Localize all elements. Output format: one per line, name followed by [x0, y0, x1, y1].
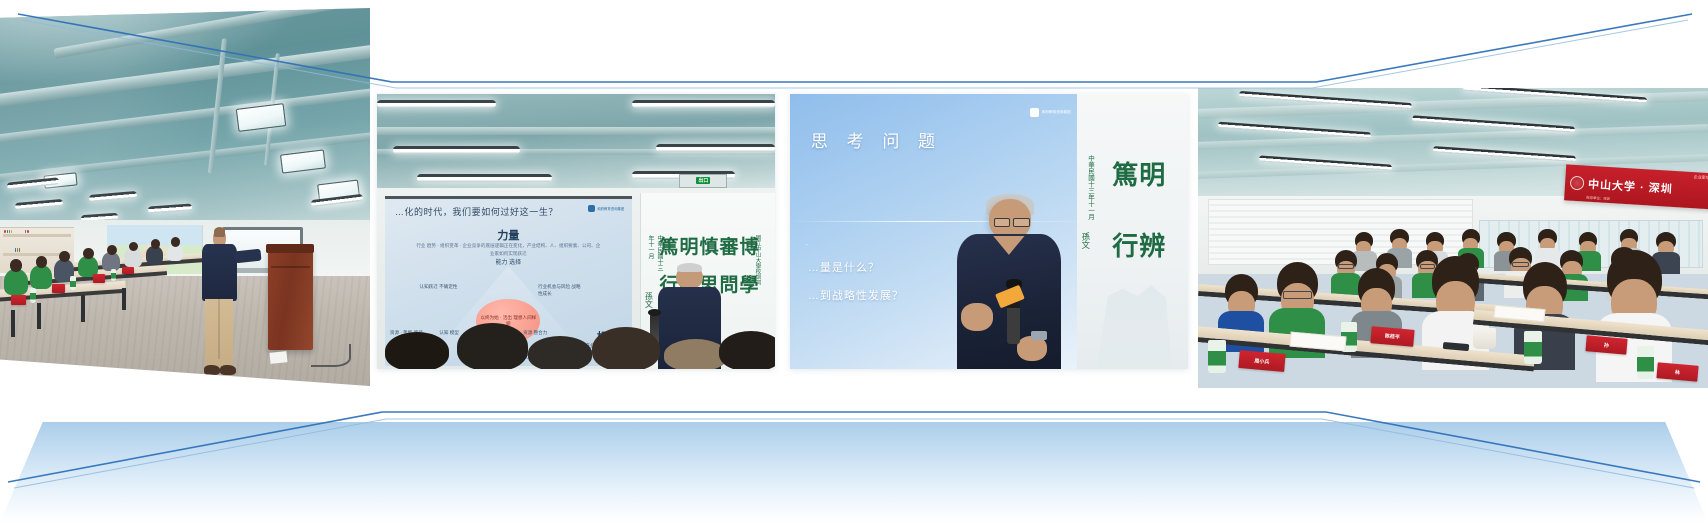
- water-bottle: [1637, 346, 1654, 379]
- photo-2-render: 出口 和府教育咨询集团 …化的时代，我们要如何过好这一生？ 力量 行业 趋势 ·…: [377, 94, 775, 369]
- calligraphy-date-note: 中華民國十三年十一月: [646, 235, 664, 274]
- name-placard: 周小兵: [1238, 350, 1285, 372]
- slide-question-2: …到战略性发展？: [808, 287, 904, 303]
- name-placard: [52, 284, 65, 293]
- instructor-shoe: [204, 365, 220, 375]
- exit-sign: 出口: [679, 174, 727, 188]
- instructor-shoe: [220, 365, 236, 375]
- gallery-photo-speaker-portrait-slide[interactable]: 和府教育咨询集团 思 考 问 题 · …量是什么？ …到战略性发展？ 篤明 行辨…: [790, 94, 1188, 369]
- wristwatch: [1031, 331, 1047, 340]
- pendant-light: [377, 100, 496, 108]
- wall-calligraphy-line-2: 行辨: [1112, 226, 1166, 263]
- name-placard: [11, 295, 26, 305]
- banner-main-text: 中山大学 · 深圳: [1588, 176, 1674, 197]
- wall-calligraphy-signature: 孫文: [1079, 232, 1091, 282]
- gallery-photo-lecture-slide-and-calligraphy[interactable]: 出口 和府教育咨询集团 …化的时代，我们要如何过好这一生？ 力量 行业 趋势 ·…: [377, 94, 775, 369]
- wall-calligraphy-line-1: 篤明: [1112, 155, 1166, 192]
- eyeglasses-right-lens: [1013, 218, 1030, 227]
- triangle-right-label: 行业机会与风险 战略性成长: [538, 283, 582, 297]
- banner-sub-text: 指导单位：深圳: [1586, 195, 1610, 201]
- name-placard-label: 孙: [1603, 341, 1609, 348]
- pendant-light: [393, 146, 520, 154]
- floor-highlight: [0, 410, 1708, 422]
- calligraphy-wall: 篤明 行辨 中華民國十三年十一月 孫文: [1077, 94, 1188, 369]
- calligraphy-line-1: 篤明慎審博: [659, 232, 759, 259]
- logo-mark-icon: [1030, 108, 1039, 117]
- water-bottle: [1524, 331, 1541, 364]
- speaker-head: [676, 265, 704, 290]
- calligraphy-side-note-right: 國立中山大學校訓詞: [753, 235, 761, 312]
- perspective-floor-panel: [0, 418, 1708, 523]
- gallery-photo-audience-rows[interactable]: 中山大学 · 深圳 企业家培训 指导单位：深圳: [1198, 88, 1708, 388]
- audience-foreground: [377, 320, 775, 370]
- university-seal-icon: [1570, 176, 1585, 191]
- slide-logo-text: 和府教育咨询集团: [1042, 110, 1071, 114]
- floor-paper: [270, 351, 288, 364]
- name-placard: 孙: [1585, 335, 1627, 355]
- pendant-light: [632, 100, 775, 108]
- name-placard-label: 林: [1675, 368, 1681, 375]
- triangle-top-label: 能力 选择: [452, 259, 566, 268]
- photo-3-render: 和府教育咨询集团 思 考 问 题 · …量是什么？ …到战略性发展？ 篤明 行辨…: [790, 94, 1188, 369]
- name-placard: [122, 267, 134, 275]
- slide-subtitle: 行业 趋势 · 组织变革 · 企业竞争的底层逻辑正在变化，产业结构、人、组织要素…: [415, 242, 603, 258]
- power-cord: [311, 344, 352, 367]
- banner-top-right-text: 企业家培训: [1694, 174, 1708, 181]
- eyeglasses-left-lens: [994, 218, 1011, 227]
- name-placard-label: 陈桂平: [1385, 332, 1401, 340]
- slide-logo: 和府教育咨询集团: [1030, 108, 1071, 117]
- slide-title: 思 考 问 题: [811, 127, 942, 152]
- pendant-light: [417, 174, 552, 182]
- photo-gallery-stage: 出口 和府教育咨询集团 …化的时代，我们要如何过好这一生？ 力量 行业 趋势 ·…: [0, 0, 1708, 523]
- water-bottle: [1208, 340, 1225, 373]
- name-placard: 陈桂平: [1371, 326, 1415, 346]
- slide-title: …化的时代，我们要如何过好这一生？: [395, 205, 607, 218]
- exit-sign-label: 出口: [696, 177, 710, 184]
- instructor-torso: [202, 244, 238, 301]
- name-placard: [93, 274, 106, 282]
- triangle-left-label: 认知跃迁 不确定性: [419, 283, 458, 290]
- photo-4-render: 中山大学 · 深圳 企业家培训 指导单位：深圳: [1198, 88, 1708, 388]
- name-placard-label: 周小兵: [1254, 357, 1270, 365]
- gallery-photo-classroom-wide-shot[interactable]: [0, 8, 370, 386]
- speaker-gesturing-hand: [961, 303, 993, 331]
- wooden-lectern: [268, 248, 312, 350]
- slide-bullet-marker: ·: [806, 240, 809, 249]
- pendant-light: [656, 144, 775, 152]
- slide-question-1: …量是什么？: [808, 259, 880, 275]
- paper-cup: [1473, 328, 1495, 349]
- instructor-legs: [205, 299, 233, 367]
- slide-heading: 力量: [385, 227, 632, 243]
- ceiling-beam: [377, 127, 775, 135]
- photo-1-render: [0, 8, 370, 386]
